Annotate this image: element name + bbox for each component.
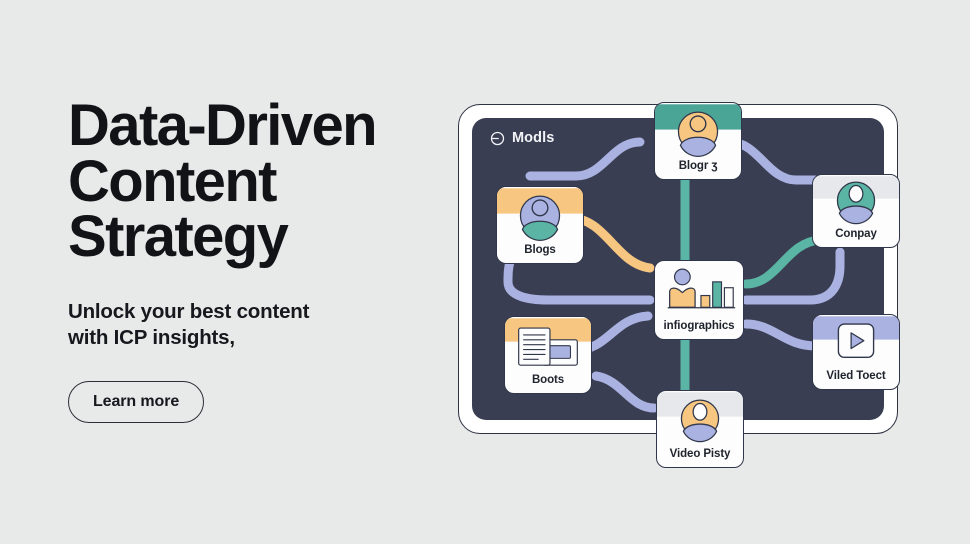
avatar-icon — [657, 391, 743, 446]
bar-chart-person-icon — [655, 261, 743, 318]
diagram-node-top[interactable]: Blogr ʒ — [654, 102, 742, 180]
avatar-icon — [813, 175, 899, 226]
diagram-node-blogs[interactable]: Blogs — [496, 186, 584, 264]
panel-header: Modls — [490, 130, 554, 146]
diagram-panel: Modls — [472, 118, 884, 420]
wire-bottom-left — [596, 376, 654, 408]
node-label: Boots — [528, 372, 568, 393]
wire-top-left — [530, 142, 640, 176]
hero-copy: Data-Driven Content Strategy Unlock your… — [68, 98, 468, 423]
node-label: Video Pisty — [666, 446, 735, 467]
node-label: Blogs — [520, 242, 559, 263]
documents-icon — [505, 317, 591, 372]
diagram-node-docs[interactable]: Boots — [504, 316, 592, 394]
circle-line-icon — [490, 131, 505, 146]
hero-banner: Data-Driven Content Strategy Unlock your… — [0, 0, 970, 544]
content-strategy-diagram: Modls — [458, 104, 898, 434]
play-button-icon — [813, 315, 899, 368]
page-title: Data-Driven Content Strategy — [68, 98, 468, 265]
panel-title: Modls — [512, 130, 554, 146]
node-label: Conpay — [831, 226, 881, 247]
avatar-icon — [497, 187, 583, 242]
node-label: infiographics — [660, 318, 739, 339]
diagram-node-company[interactable]: Conpay — [812, 174, 900, 248]
diagram-node-video-content[interactable]: Viled Toect — [812, 314, 900, 390]
wire-center-video — [746, 324, 816, 346]
node-label: Blogr ʒ — [675, 158, 722, 179]
node-label: Viled Toect — [822, 368, 889, 389]
avatar-icon — [655, 103, 741, 158]
wire-center-right — [746, 240, 820, 284]
learn-more-button[interactable]: Learn more — [68, 381, 204, 423]
diagram-node-infographics[interactable]: infiographics — [654, 260, 744, 340]
wire-top-right — [730, 142, 824, 180]
hero-subhead: Unlock your best content with ICP insigh… — [68, 299, 468, 351]
diagram-node-video-party[interactable]: Video Pisty — [656, 390, 744, 468]
